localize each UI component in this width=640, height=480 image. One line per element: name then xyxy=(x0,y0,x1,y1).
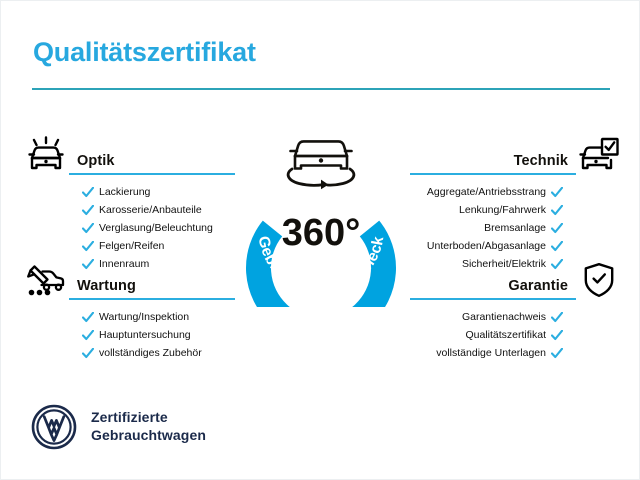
page-title: Qualitätszertifikat xyxy=(33,37,256,68)
list-item: Qualitätszertifikat xyxy=(410,326,563,344)
list-item-label: Lackierung xyxy=(99,187,150,198)
brand-line-1: Zertifizierte xyxy=(91,409,206,427)
check-icon xyxy=(551,348,563,359)
badge-center-label: 360° xyxy=(282,212,361,254)
section-garantie-list: Garantienachweis Qualitätszertifikat vol… xyxy=(410,308,622,362)
list-item-label: Felgen/Reifen xyxy=(99,241,164,252)
list-item: Garantienachweis xyxy=(410,308,563,326)
list-item: vollständige Unterlagen xyxy=(410,344,563,362)
section-wartung: Wartung Wartung/Inspektion Hauptuntersuc… xyxy=(23,257,235,362)
list-item-label: Aggregate/Antriebsstrang xyxy=(427,187,546,198)
list-item-label: Verglasung/Beleuchtung xyxy=(99,223,213,234)
check-icon xyxy=(82,187,94,198)
list-item: vollständiges Zubehör xyxy=(82,344,235,362)
check-icon xyxy=(82,348,94,359)
list-item: Wartung/Inspektion xyxy=(82,308,235,326)
list-item: Unterboden/Abgasanlage xyxy=(410,237,563,255)
check-icon xyxy=(551,223,563,234)
section-technik-title: Technik xyxy=(410,153,576,173)
car-shine-icon xyxy=(23,134,69,176)
check-icon xyxy=(551,312,563,323)
section-optik-underline xyxy=(69,173,235,175)
check-icon xyxy=(551,330,563,341)
check-icon xyxy=(82,330,94,341)
list-item-label: Qualitätszertifikat xyxy=(465,330,546,341)
check-icon xyxy=(551,205,563,216)
list-item-label: Wartung/Inspektion xyxy=(99,312,189,323)
car-checkbox-icon xyxy=(576,134,622,176)
check-icon xyxy=(551,187,563,198)
section-optik-header: Optik xyxy=(23,132,235,176)
check-icon xyxy=(82,312,94,323)
check-icon xyxy=(551,241,563,252)
title-divider xyxy=(32,88,610,90)
service-book-pen-car-icon xyxy=(23,259,69,301)
badge-360-gebrauchtwagen-check: Gebrauchtwagen-Check 360° xyxy=(234,127,408,307)
check-icon xyxy=(82,241,94,252)
section-wartung-underline xyxy=(69,298,235,300)
section-garantie-underline xyxy=(410,298,576,300)
section-wartung-list: Wartung/Inspektion Hauptuntersuchung vol… xyxy=(23,308,235,362)
section-garantie: Garantie Garantienachweis Qualitätszerti… xyxy=(410,257,622,362)
list-item-label: Karosserie/Anbauteile xyxy=(99,205,202,216)
section-wartung-header: Wartung xyxy=(23,257,235,301)
list-item-label: Garantienachweis xyxy=(462,312,546,323)
list-item: Hauptuntersuchung xyxy=(82,326,235,344)
list-item: Felgen/Reifen xyxy=(82,237,235,255)
list-item-label: Lenkung/Fahrwerk xyxy=(459,205,546,216)
list-item-label: Bremsanlage xyxy=(484,223,546,234)
check-icon xyxy=(82,205,94,216)
list-item: Lenkung/Fahrwerk xyxy=(410,201,563,219)
volkswagen-brand-block: Zertifizierte Gebrauchtwagen xyxy=(31,404,206,450)
car-rotate-360-icon xyxy=(288,141,354,189)
list-item-label: vollständiges Zubehör xyxy=(99,348,202,359)
shield-check-icon xyxy=(576,259,622,301)
list-item-label: Hauptuntersuchung xyxy=(99,330,191,341)
section-technik: Technik Aggregate/Antriebsstrang Lenkung… xyxy=(410,132,622,273)
list-item: Bremsanlage xyxy=(410,219,563,237)
list-item-label: vollständige Unterlagen xyxy=(436,348,546,359)
list-item: Karosserie/Anbauteile xyxy=(82,201,235,219)
section-technik-underline xyxy=(410,173,576,175)
volkswagen-brand-text: Zertifizierte Gebrauchtwagen xyxy=(91,409,206,445)
section-garantie-header: Garantie xyxy=(410,257,622,301)
list-item: Verglasung/Beleuchtung xyxy=(82,219,235,237)
section-optik: Optik Lackierung Karosserie/Anbauteile xyxy=(23,132,235,273)
list-item: Lackierung xyxy=(82,183,235,201)
section-optik-title: Optik xyxy=(69,153,235,173)
list-item: Aggregate/Antriebsstrang xyxy=(410,183,563,201)
brand-line-2: Gebrauchtwagen xyxy=(91,427,206,445)
volkswagen-logo xyxy=(31,404,77,450)
certificate-page: Qualitätszertifikat xyxy=(1,1,639,479)
section-wartung-title: Wartung xyxy=(69,278,235,298)
list-item-label: Unterboden/Abgasanlage xyxy=(427,241,546,252)
section-garantie-title: Garantie xyxy=(410,278,576,298)
section-technik-header: Technik xyxy=(410,132,622,176)
check-icon xyxy=(82,223,94,234)
